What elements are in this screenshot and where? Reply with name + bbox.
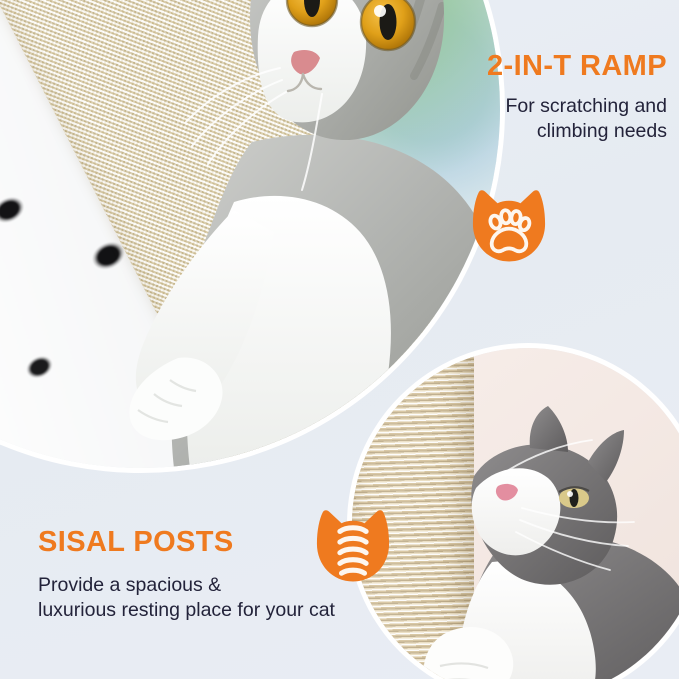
fluffy-grey-white-cat <box>352 348 679 679</box>
ramp-feature-text: 2-IN-T RAMP For scratching and climbing … <box>419 52 667 143</box>
ramp-subtext: For scratching and climbing needs <box>419 94 667 143</box>
sisal-subtext-line2: luxurious resting place for your cat <box>38 598 418 623</box>
post-photo-background <box>352 348 679 679</box>
paw-print-icon <box>468 186 550 268</box>
post-photo <box>352 348 679 679</box>
sisal-rope-badge <box>312 506 394 588</box>
ramp-subtext-line2: climbing needs <box>419 119 667 144</box>
paw-print-badge <box>468 186 550 268</box>
product-feature-poster: 2-IN-T RAMP For scratching and climbing … <box>0 0 679 679</box>
sisal-rope-icon <box>312 506 394 588</box>
ramp-subtext-line1: For scratching and <box>419 94 667 119</box>
ramp-headline: 2-IN-T RAMP <box>419 52 667 81</box>
